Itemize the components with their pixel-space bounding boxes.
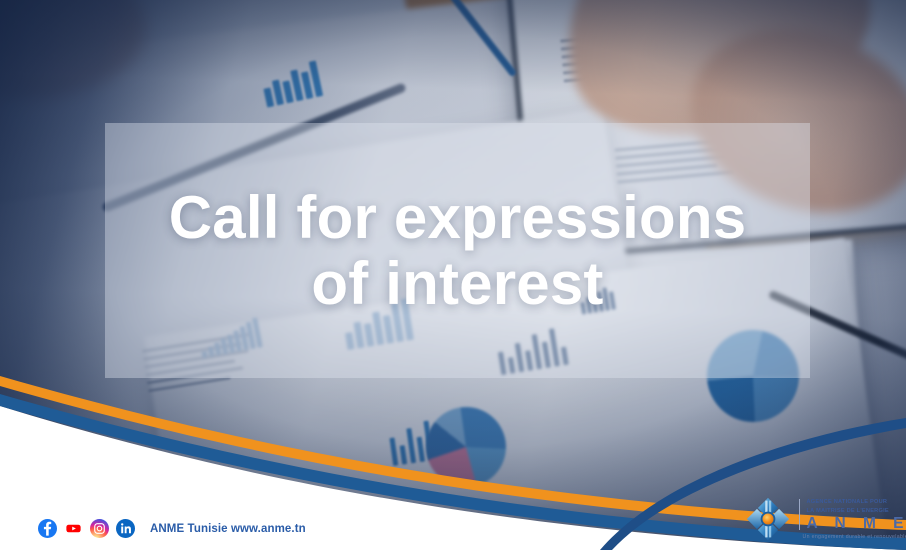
logo-line-2: LA MAITRISE DE L'ENERGIE [807,507,906,516]
social-handle-text: ANME Tunisie www.anme.tn [150,523,306,535]
promotional-banner: Call for expressions of interest [0,0,906,550]
logo-divider [799,499,800,530]
anme-emblem-icon [745,496,791,542]
social-links[interactable]: ANME Tunisie www.anme.tn [38,519,306,538]
logo-acronym: A N M E [807,516,906,532]
linkedin-icon[interactable] [116,519,135,538]
title-line-2: of interest [311,252,603,316]
facebook-icon[interactable] [38,519,57,538]
anme-logo-text: AGENCE NATIONALE POUR LA MAITRISE DE L'E… [799,498,906,540]
youtube-icon[interactable] [64,519,83,538]
anme-logo: AGENCE NATIONALE POUR LA MAITRISE DE L'E… [745,496,906,542]
page-title: Call for expressions of interest [105,123,810,378]
instagram-icon[interactable] [90,519,109,538]
logo-line-1: AGENCE NATIONALE POUR [807,498,906,507]
logo-tagline: Un engagement durable et renouvelable [802,535,906,540]
title-line-1: Call for expressions [169,186,747,250]
